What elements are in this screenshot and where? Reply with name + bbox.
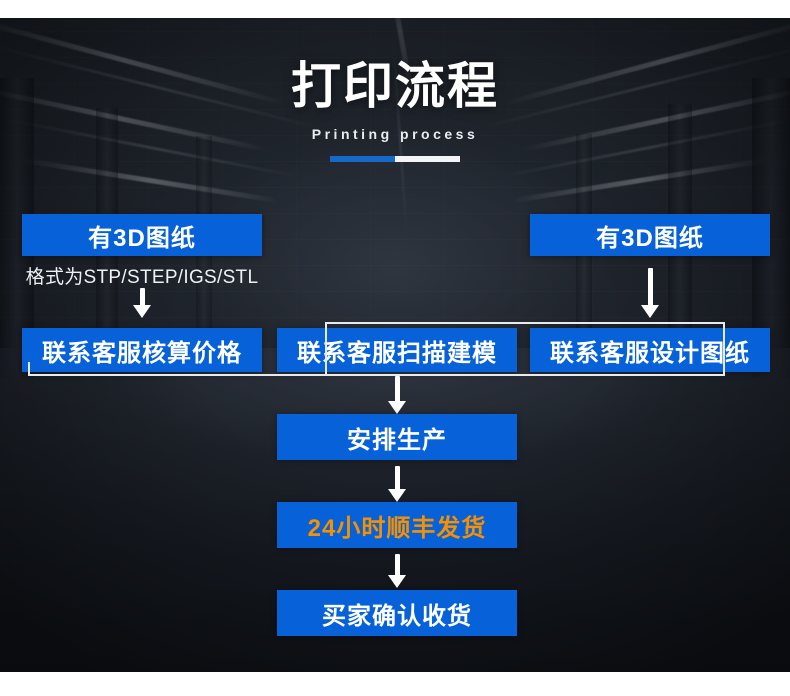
flow-box-buyer-confirm-receipt[interactable]: 买家确认收货 xyxy=(277,590,517,636)
flow-box-contact-scan-model[interactable]: 联系客服扫描建模 xyxy=(277,328,517,372)
accent-divider-blue-segment xyxy=(330,156,395,162)
flow-box-label: 有3D图纸 xyxy=(596,218,704,253)
promo-flowchart-banner: 打印流程 Printing process 有3D图纸 有3D图纸 格式为STP… xyxy=(0,0,790,696)
flow-box-label: 24小时顺丰发货 xyxy=(308,508,487,543)
connector-rail-bottom-left-tick xyxy=(28,362,31,375)
arrow-down-icon xyxy=(383,466,411,502)
header-block: 打印流程 Printing process xyxy=(0,58,790,162)
flow-box-sf-express-24h[interactable]: 24小时顺丰发货 xyxy=(277,502,517,548)
connector-rail-top-horizontal xyxy=(325,322,725,325)
bottom-white-strip xyxy=(0,672,790,696)
arrow-down-icon xyxy=(128,288,156,318)
top-white-strip xyxy=(0,0,790,18)
flow-box-label: 联系客服核算价格 xyxy=(42,333,242,368)
arrow-down-icon xyxy=(383,376,411,414)
arrow-down-icon xyxy=(636,268,664,318)
connector-rail-top-left-tick xyxy=(325,322,328,376)
flow-box-contact-price[interactable]: 联系客服核算价格 xyxy=(22,328,262,372)
flow-box-contact-design-drawing[interactable]: 联系客服设计图纸 xyxy=(530,328,770,372)
page-subtitle: Printing process xyxy=(0,126,790,142)
accent-divider-white-segment xyxy=(395,156,460,162)
accent-divider xyxy=(330,156,460,162)
flow-box-label: 有3D图纸 xyxy=(88,218,196,253)
flow-box-label: 安排生产 xyxy=(347,420,447,455)
flow-box-label: 联系客服设计图纸 xyxy=(550,333,750,368)
flow-box-has-3d-drawing-right[interactable]: 有3D图纸 xyxy=(530,214,770,256)
connector-rail-top-right-tick xyxy=(723,322,726,376)
page-title: 打印流程 xyxy=(0,58,790,114)
arrow-down-icon xyxy=(383,554,411,588)
file-format-note: 格式为STP/STEP/IGS/STL xyxy=(22,262,262,289)
flow-box-label: 买家确认收货 xyxy=(322,596,472,631)
connector-rail-bottom-horizontal xyxy=(28,374,725,377)
flow-box-arrange-production[interactable]: 安排生产 xyxy=(277,414,517,460)
flow-box-has-3d-drawing-left[interactable]: 有3D图纸 xyxy=(22,214,262,256)
